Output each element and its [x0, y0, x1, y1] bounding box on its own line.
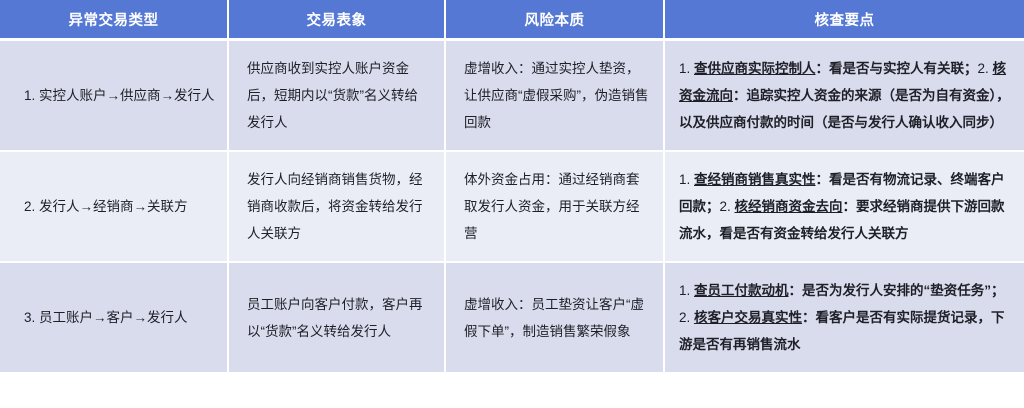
- table-row: 2. 发行人→经销商→关联方 发行人向经销商销售货物，经销商收款后，将资金转给发…: [0, 152, 1024, 263]
- text-segment: 核经销商资金去向: [735, 199, 843, 214]
- cell-verification-points: 1. 查员工付款动机：是否为发行人安排的“垫资任务”；2. 核客户交易真实性：看…: [665, 263, 1024, 372]
- header-transaction-type: 异常交易类型: [0, 0, 229, 41]
- text-segment: 1.: [679, 283, 694, 298]
- cell-transaction-type: 3. 员工账户→客户→发行人: [0, 263, 229, 372]
- text-segment: 核客户交易真实性: [694, 310, 802, 325]
- cell-transaction-type: 2. 发行人→经销商→关联方: [0, 152, 229, 263]
- cell-verification-points: 1. 查经销商销售真实性：看是否有物流记录、终端客户回款；2. 核经销商资金去向…: [665, 152, 1024, 263]
- header-verification-points: 核查要点: [665, 0, 1024, 41]
- cell-risk-essence: 体外资金占用：通过经销商套取发行人资金，用于关联方经营: [446, 152, 665, 263]
- text-segment: 2.: [679, 310, 694, 325]
- abnormal-transaction-table-container: 异常交易类型 交易表象 风险本质 核查要点 1. 实控人账户→供应商→发行人 供…: [0, 0, 1024, 408]
- cell-risk-essence: 虚增收入：员工垫资让客户“虚假下单”，制造销售繁荣假象: [446, 263, 665, 372]
- cell-verification-points: 1. 查供应商实际控制人：看是否与实控人有关联；2. 核资金流向：追踪实控人资金…: [665, 41, 1024, 152]
- header-transaction-appearance: 交易表象: [229, 0, 446, 41]
- table-header: 异常交易类型 交易表象 风险本质 核查要点: [0, 0, 1024, 41]
- table-body: 1. 实控人账户→供应商→发行人 供应商收到实控人账户资金后，短期内以“货款”名…: [0, 41, 1024, 372]
- cell-transaction-appearance: 发行人向经销商销售货物，经销商收款后，将资金转给发行人关联方: [229, 152, 446, 263]
- text-segment: 1.: [679, 172, 694, 187]
- text-segment: 查员工付款动机: [694, 283, 789, 298]
- table-row: 3. 员工账户→客户→发行人 员工账户向客户付款，客户再以“货款”名义转给发行人…: [0, 263, 1024, 372]
- cell-transaction-appearance: 供应商收到实控人账户资金后，短期内以“货款”名义转给发行人: [229, 41, 446, 152]
- table-header-row: 异常交易类型 交易表象 风险本质 核查要点: [0, 0, 1024, 41]
- text-segment: 2.: [978, 61, 993, 76]
- header-risk-essence: 风险本质: [446, 0, 665, 41]
- text-segment: ：看是否与实控人有关联；: [816, 61, 978, 76]
- abnormal-transaction-table: 异常交易类型 交易表象 风险本质 核查要点 1. 实控人账户→供应商→发行人 供…: [0, 0, 1024, 372]
- table-row: 1. 实控人账户→供应商→发行人 供应商收到实控人账户资金后，短期内以“货款”名…: [0, 41, 1024, 152]
- text-segment: 查经销商销售真实性: [694, 172, 816, 187]
- text-segment: 查供应商实际控制人: [694, 61, 816, 76]
- text-segment: 2.: [720, 199, 735, 214]
- text-segment: ：是否为发行人安排的“垫资任务”；: [789, 283, 1005, 298]
- text-segment: 1.: [679, 61, 694, 76]
- cell-transaction-type: 1. 实控人账户→供应商→发行人: [0, 41, 229, 152]
- cell-risk-essence: 虚增收入：通过实控人垫资，让供应商“虚假采购”，伪造销售回款: [446, 41, 665, 152]
- cell-transaction-appearance: 员工账户向客户付款，客户再以“货款”名义转给发行人: [229, 263, 446, 372]
